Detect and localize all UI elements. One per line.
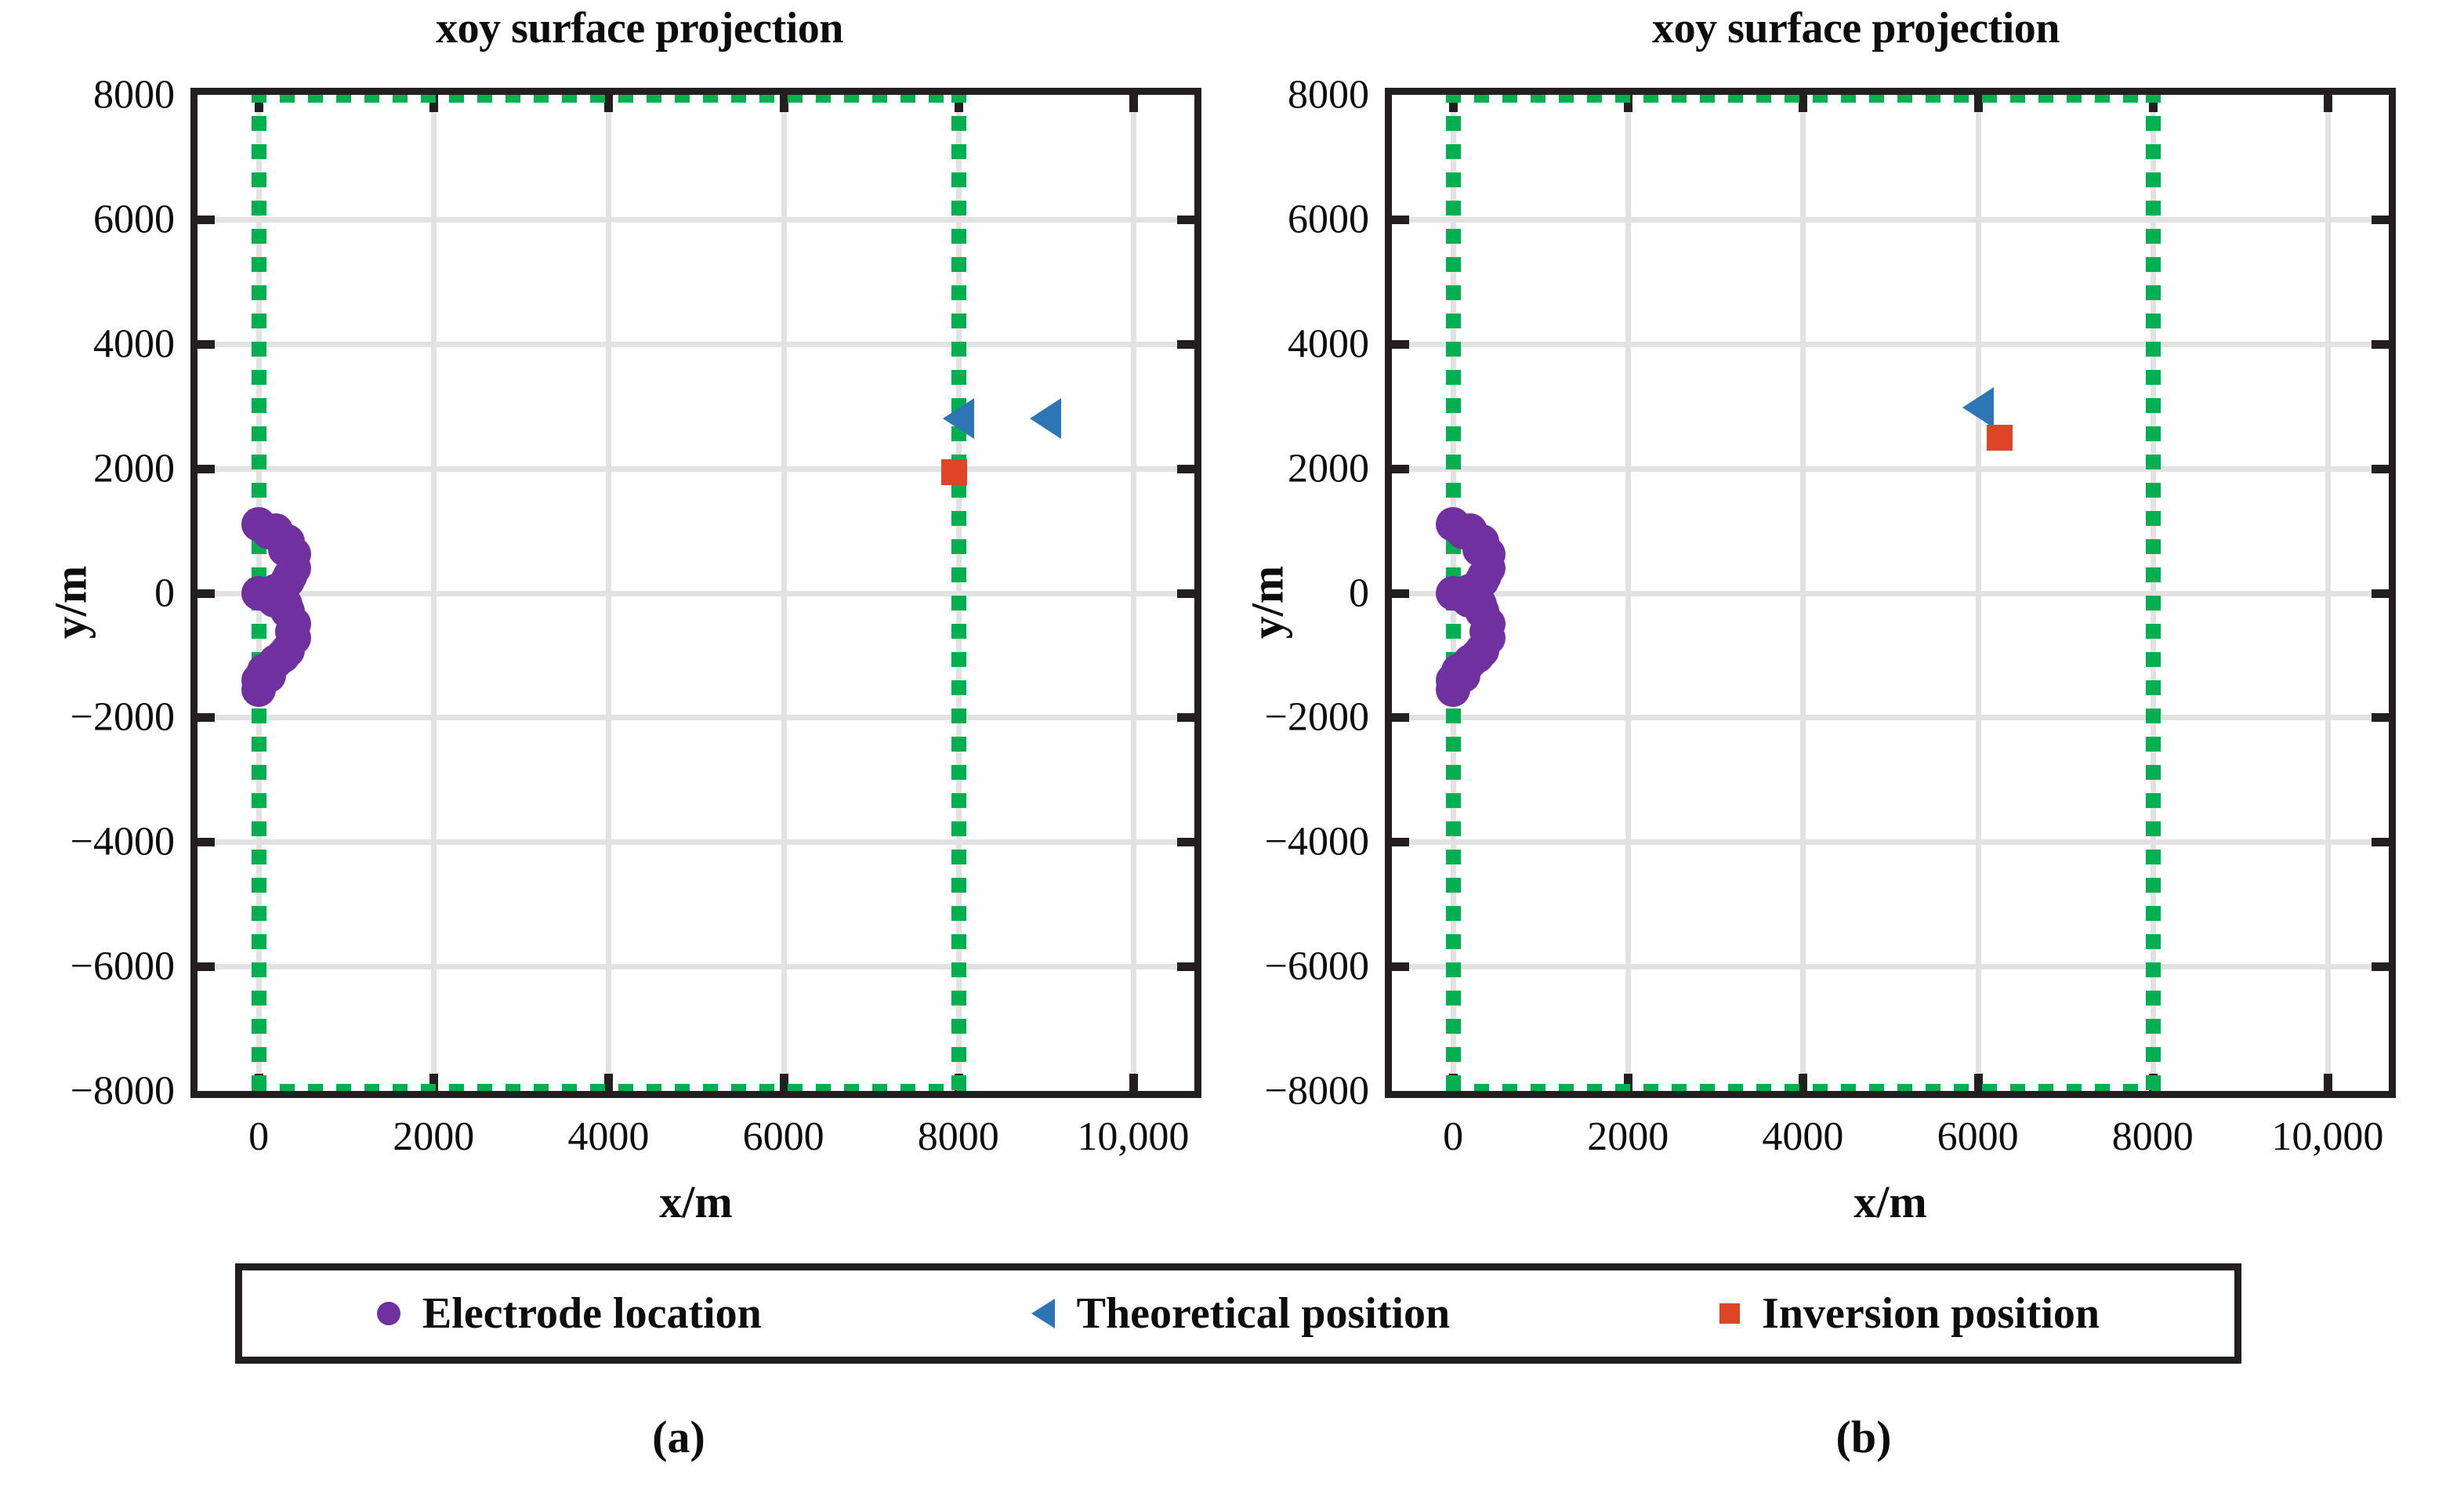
panel-b-y-axis-title: y/m	[1241, 524, 1294, 681]
gridline-horizontal	[1392, 342, 2389, 347]
inversion-position-marker	[1987, 425, 2013, 451]
axis-tick-mark	[1129, 1074, 1138, 1091]
gridline-horizontal	[1392, 715, 2389, 720]
theoretical-position-marker	[943, 398, 974, 439]
axis-tick-mark	[2324, 1074, 2332, 1091]
panel-b-plot-frame	[1385, 88, 2396, 1098]
gridline-horizontal	[197, 715, 1194, 720]
axis-tick-mark	[197, 216, 215, 224]
x-tick-label: 10,000	[2271, 1114, 2383, 1160]
gridline-horizontal	[197, 217, 1194, 223]
circle-icon	[377, 1302, 400, 1325]
axis-tick-mark	[2372, 216, 2389, 224]
axis-tick-mark	[2372, 465, 2389, 473]
y-tick-label: 4000	[0, 321, 175, 367]
gridline-vertical	[606, 95, 611, 1091]
gridline-horizontal	[1392, 839, 2389, 845]
axis-tick-mark	[1392, 589, 1409, 598]
axis-tick-mark	[197, 340, 215, 349]
figure-root: xoy surface projection −8000−6000−4000−2…	[0, 0, 2464, 1493]
x-tick-label: 4000	[567, 1114, 649, 1160]
gridline-vertical	[1800, 95, 1806, 1091]
axis-tick-mark	[1392, 962, 1409, 971]
panel-a-caption: (a)	[0, 1411, 1232, 1463]
gridline-vertical	[1131, 95, 1136, 1091]
y-tick-label: 4000	[1189, 321, 1369, 367]
inversion-position-marker	[941, 459, 967, 485]
x-tick-label: 2000	[1587, 1114, 1669, 1160]
axis-tick-mark	[1392, 216, 1409, 224]
axis-tick-mark	[197, 838, 215, 846]
axis-tick-mark	[1129, 95, 1138, 112]
axis-tick-mark	[197, 589, 215, 598]
gridline-horizontal	[1392, 217, 2389, 223]
x-tick-label: 6000	[743, 1114, 824, 1160]
x-tick-label: 8000	[2112, 1114, 2194, 1160]
square-icon	[1719, 1303, 1740, 1324]
axis-tick-mark	[2372, 340, 2389, 349]
boundary-dashed-right	[2146, 95, 2161, 1091]
y-tick-label: −4000	[0, 819, 175, 865]
panel-a-plot-area	[197, 95, 1194, 1091]
gridline-horizontal	[197, 591, 1194, 596]
gridline-horizontal	[197, 964, 1194, 969]
axis-tick-mark	[1392, 838, 1409, 846]
figure-legend: Electrode locationTheoretical positionIn…	[235, 1263, 2241, 1364]
y-tick-label: −8000	[1189, 1068, 1369, 1114]
y-tick-label: −2000	[0, 694, 175, 741]
y-tick-label: −4000	[1189, 819, 1369, 865]
axis-tick-mark	[1392, 713, 1409, 722]
panel-a-title: xoy surface projection	[0, 3, 1232, 53]
gridline-vertical	[1625, 95, 1631, 1091]
y-tick-label: 6000	[0, 196, 175, 242]
boundary-dashed-bottom	[1446, 1084, 2161, 1091]
x-tick-label: 8000	[918, 1114, 999, 1160]
x-tick-label: 0	[1443, 1114, 1463, 1160]
legend-entry: Theoretical position	[1031, 1288, 1451, 1339]
x-tick-label: 10,000	[1077, 1114, 1189, 1160]
y-tick-label: 6000	[1189, 196, 1369, 242]
theoretical-position-marker	[1030, 398, 1061, 439]
boundary-dashed-top	[252, 95, 966, 103]
x-tick-label: 6000	[1937, 1114, 2019, 1160]
gridline-horizontal	[1392, 964, 2389, 969]
panel-b-caption: (b)	[1232, 1411, 2464, 1463]
legend-entry: Electrode location	[377, 1288, 762, 1339]
electrode-marker	[252, 658, 286, 693]
axis-tick-mark	[2372, 713, 2389, 722]
x-tick-label: 4000	[1762, 1114, 1843, 1160]
gridline-horizontal	[197, 839, 1194, 845]
y-tick-label: −6000	[0, 944, 175, 990]
y-tick-label: −8000	[0, 1068, 175, 1114]
x-tick-label: 2000	[393, 1114, 474, 1160]
legend-label: Inversion position	[1762, 1288, 2100, 1339]
gridline-horizontal	[197, 342, 1194, 347]
panel-a-x-axis-title: x/m	[190, 1176, 1201, 1228]
boundary-dashed-top	[1446, 95, 2161, 103]
theoretical-position-marker	[1962, 387, 1994, 428]
y-tick-label: 8000	[1189, 72, 1369, 118]
panel-a-plot-frame	[190, 88, 1201, 1098]
gridline-vertical	[431, 95, 437, 1091]
panel-b-plot-area	[1392, 95, 2389, 1091]
y-tick-label: −2000	[1189, 694, 1369, 741]
axis-tick-mark	[1392, 340, 1409, 349]
y-tick-label: 2000	[0, 445, 175, 491]
y-tick-label: 8000	[0, 72, 175, 118]
panel-a-y-axis-title: y/m	[45, 524, 97, 681]
axis-tick-mark	[2372, 838, 2389, 846]
axis-tick-mark	[1392, 465, 1409, 473]
axis-tick-mark	[2324, 95, 2332, 112]
gridline-horizontal	[1392, 466, 2389, 472]
legend-label: Electrode location	[422, 1288, 762, 1339]
gridline-horizontal	[1392, 591, 2389, 596]
legend-label: Theoretical position	[1077, 1288, 1451, 1339]
axis-tick-mark	[197, 465, 215, 473]
y-tick-label: 2000	[1189, 445, 1369, 491]
y-tick-label: −6000	[1189, 944, 1369, 990]
panel-b-x-axis-title: x/m	[1385, 1176, 2396, 1228]
gridline-vertical	[2325, 95, 2331, 1091]
gridline-vertical	[781, 95, 787, 1091]
triangle-icon	[1031, 1299, 1055, 1328]
x-tick-label: 0	[248, 1114, 269, 1160]
axis-tick-mark	[197, 962, 215, 971]
axis-tick-mark	[2372, 962, 2389, 971]
panel-b-title: xoy surface projection	[1232, 3, 2464, 53]
gridline-vertical	[1976, 95, 1981, 1091]
legend-entry: Inversion position	[1719, 1288, 2100, 1339]
boundary-dashed-right	[951, 95, 966, 1091]
gridline-horizontal	[197, 466, 1194, 472]
electrode-marker	[1446, 658, 1480, 693]
axis-tick-mark	[197, 713, 215, 722]
boundary-dashed-bottom	[252, 1084, 966, 1091]
axis-tick-mark	[2372, 589, 2389, 598]
